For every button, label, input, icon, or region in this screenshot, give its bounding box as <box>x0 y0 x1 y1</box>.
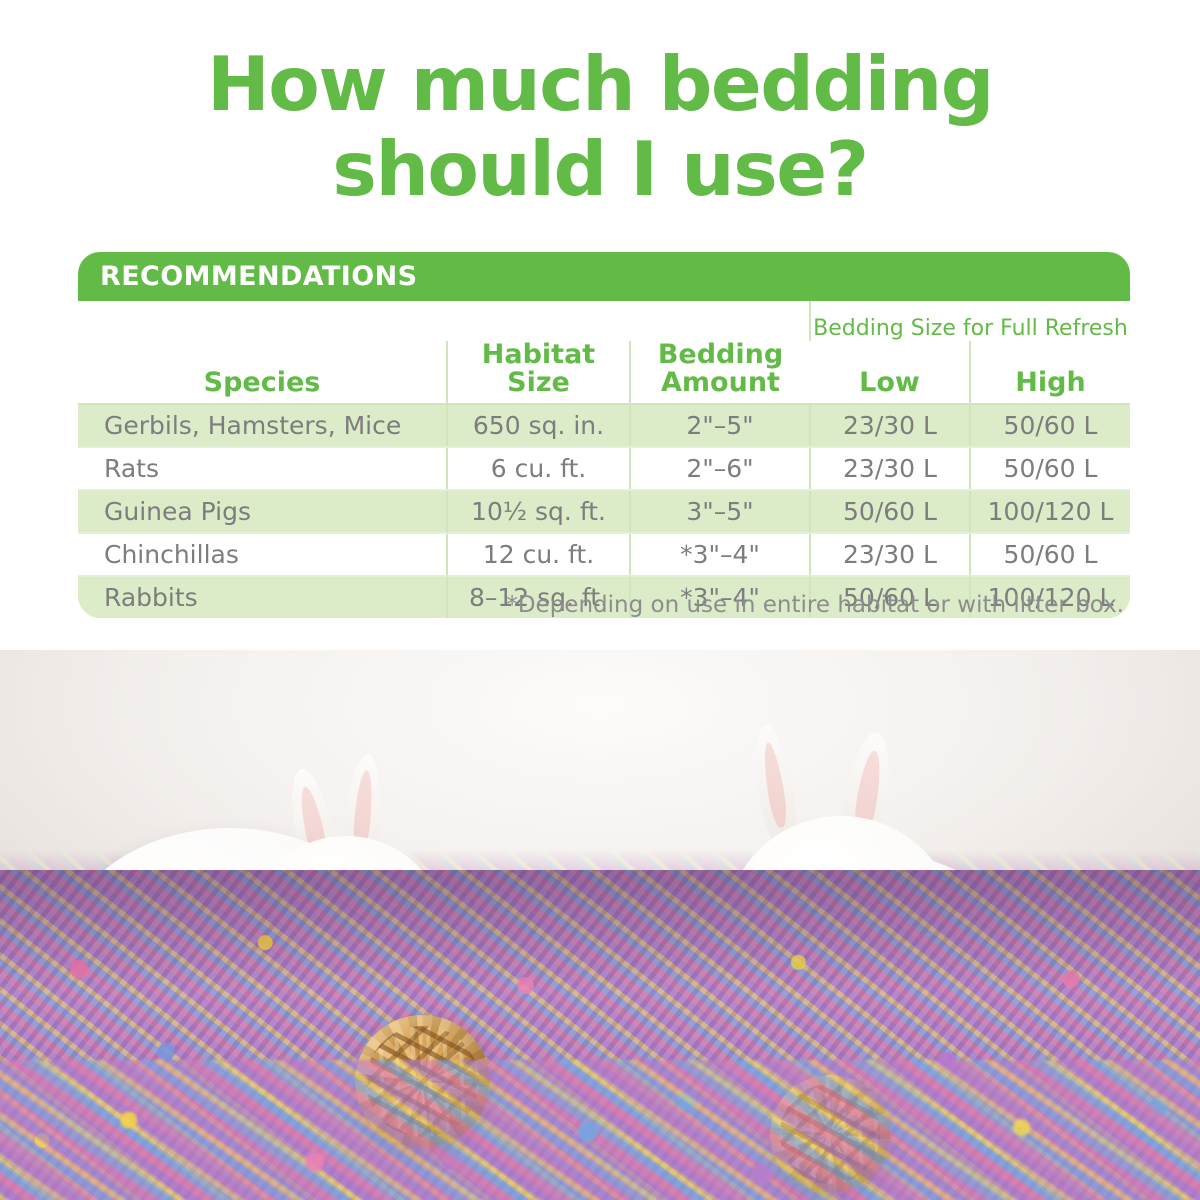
cell-refresh-low: 23/30 L <box>810 533 970 576</box>
column-header-habitat-size: Habitat Size <box>447 341 630 404</box>
group-header-spacer-amount <box>630 301 810 341</box>
cell-refresh-high: 50/60 L <box>970 533 1130 576</box>
page-title-line-1: How much bedding <box>0 42 1200 127</box>
recommendations-table: Bedding Size for Full Refresh Species Ha… <box>78 301 1130 618</box>
group-header-spacer-species <box>78 301 447 341</box>
cell-bedding-amount: *3"–4" <box>630 533 810 576</box>
cell-bedding-amount: 3"–5" <box>630 490 810 533</box>
table-group-header-row: Bedding Size for Full Refresh <box>78 301 1130 341</box>
column-header-habitat-line-1: Habitat <box>448 341 629 369</box>
page-title: How much bedding should I use? <box>0 0 1200 212</box>
rabbit-right-ear-inner-left <box>760 741 789 828</box>
column-header-refresh-low: Low <box>810 341 970 404</box>
column-header-habitat-line-2: Size <box>448 369 629 397</box>
cell-habitat-size: 10½ sq. ft. <box>447 490 630 533</box>
cell-habitat-size: 12 cu. ft. <box>447 533 630 576</box>
cell-refresh-high: 50/60 L <box>970 447 1130 490</box>
cell-refresh-high: 100/120 L <box>970 490 1130 533</box>
column-header-refresh-high: High <box>970 341 1130 404</box>
table-row: Rats 6 cu. ft. 2"–6" 23/30 L 50/60 L <box>78 447 1130 490</box>
group-header-full-refresh: Bedding Size for Full Refresh <box>810 301 1130 341</box>
recommendations-card-body: RECOMMENDATIONS Bedding Size for Full Re… <box>78 252 1130 618</box>
recommendations-heading: RECOMMENDATIONS <box>100 261 417 292</box>
cell-refresh-low: 23/30 L <box>810 447 970 490</box>
table-row: Gerbils, Hamsters, Mice 650 sq. in. 2"–5… <box>78 404 1130 447</box>
cell-species: Guinea Pigs <box>78 490 447 533</box>
table-footnote: *Depending on use in entire habitat or w… <box>78 592 1130 618</box>
column-header-amount-line-2: Amount <box>631 369 810 397</box>
column-header-amount-line-1: Bedding <box>631 341 810 369</box>
column-header-bedding-amount: Bedding Amount <box>630 341 810 404</box>
cell-habitat-size: 6 cu. ft. <box>447 447 630 490</box>
cell-refresh-low: 23/30 L <box>810 404 970 447</box>
column-header-species: Species <box>78 341 447 404</box>
bedding-shadow <box>0 870 1200 990</box>
cell-species: Gerbils, Hamsters, Mice <box>78 404 447 447</box>
recommendations-card-header: RECOMMENDATIONS <box>78 252 1130 301</box>
cell-refresh-low: 50/60 L <box>810 490 970 533</box>
cell-species: Rats <box>78 447 447 490</box>
table-body: Gerbils, Hamsters, Mice 650 sq. in. 2"–5… <box>78 404 1130 618</box>
table-row: Guinea Pigs 10½ sq. ft. 3"–5" 50/60 L 10… <box>78 490 1130 533</box>
rabbits-photo <box>0 650 1200 1200</box>
table-header-row: Species Habitat Size Bedding Amount Low … <box>78 341 1130 404</box>
recommendations-card: RECOMMENDATIONS Bedding Size for Full Re… <box>78 252 1130 618</box>
cell-bedding-amount: 2"–6" <box>630 447 810 490</box>
page-title-line-2: should I use? <box>0 127 1200 212</box>
cell-species: Chinchillas <box>78 533 447 576</box>
bedding-foreground <box>0 1060 1200 1200</box>
cell-bedding-amount: 2"–5" <box>630 404 810 447</box>
cell-habitat-size: 650 sq. in. <box>447 404 630 447</box>
table-row: Chinchillas 12 cu. ft. *3"–4" 23/30 L 50… <box>78 533 1130 576</box>
cell-refresh-high: 50/60 L <box>970 404 1130 447</box>
table-head: Bedding Size for Full Refresh Species Ha… <box>78 301 1130 404</box>
group-header-spacer-habitat <box>447 301 630 341</box>
